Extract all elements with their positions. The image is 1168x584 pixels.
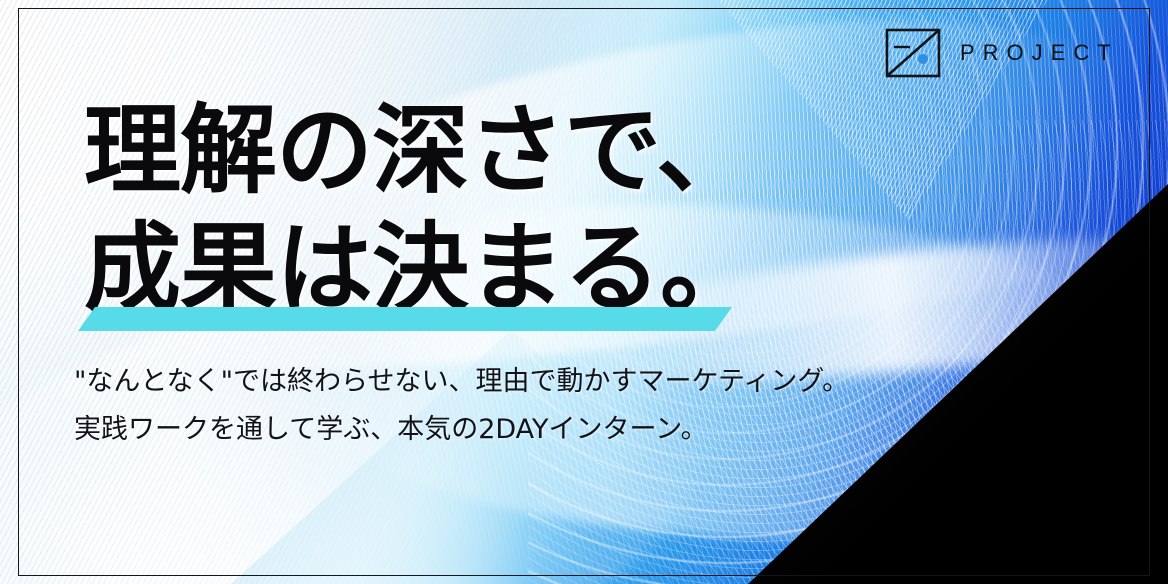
subtitle-line-2: 実践ワークを通して学ぶ、本気の2DAYインターン。	[74, 406, 849, 454]
headline-underline-accent	[78, 307, 732, 331]
hero-banner: PROJECT 理解の深さで、 成果は決まる。 "なんとなく"では終わらせない、…	[0, 0, 1168, 584]
brand-wordmark: PROJECT	[960, 40, 1119, 66]
brand-logo[interactable]: PROJECT	[884, 27, 1119, 79]
subtitle: "なんとなく"では終わらせない、理由で動かすマーケティング。 実践ワークを通して…	[74, 358, 849, 454]
subtitle-line-1: "なんとなく"では終わらせない、理由で動かすマーケティング。	[74, 358, 849, 406]
headline-line-1: 理解の深さで、	[84, 92, 844, 210]
fa-monogram-icon	[884, 27, 942, 79]
headline: 理解の深さで、 成果は決まる。	[84, 92, 844, 328]
